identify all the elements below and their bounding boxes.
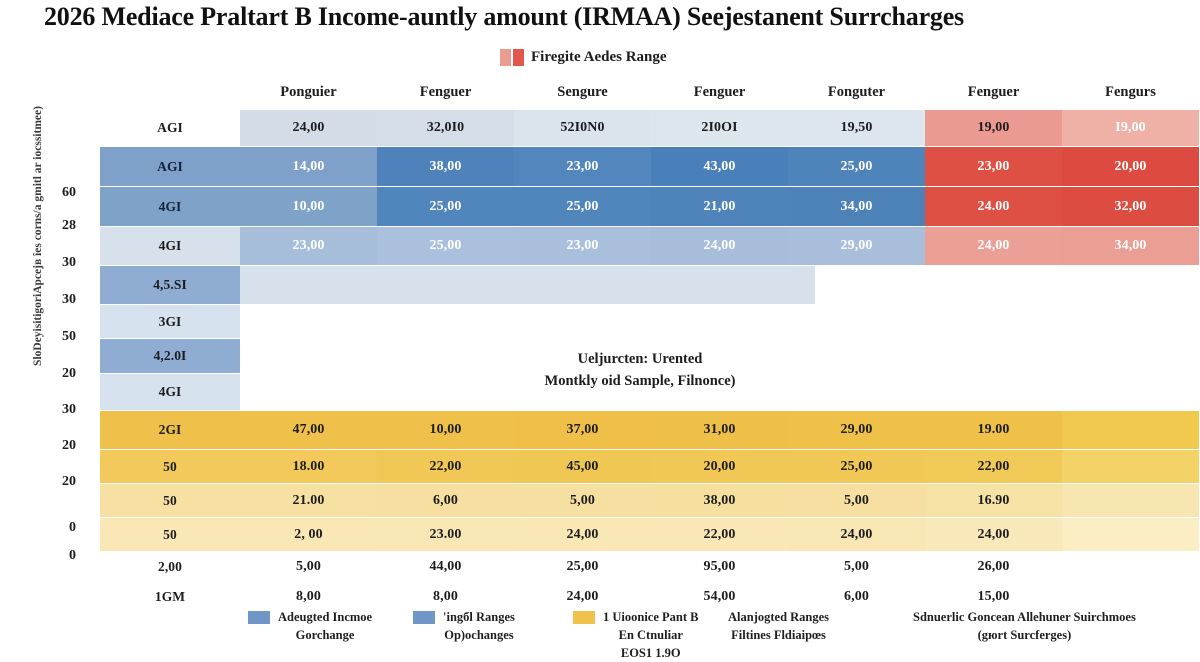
cell-12-2: 25,00 bbox=[514, 552, 651, 582]
cell-1-2: 23,00 bbox=[514, 147, 651, 186]
legend-swatch-0 bbox=[248, 611, 270, 624]
cell-11-4: 24,00 bbox=[788, 518, 925, 551]
legend-label-line: Op)ochanges bbox=[443, 626, 515, 644]
row-label-10: 50 bbox=[100, 484, 240, 517]
cell-1-1: 38,00 bbox=[377, 147, 514, 186]
cell-8-5: 19.00 bbox=[925, 411, 1062, 449]
cell-8-6 bbox=[1062, 411, 1199, 449]
cell-12-4: 5,00 bbox=[788, 552, 925, 582]
cell-9-0: 18.00 bbox=[240, 450, 377, 483]
cell-3-0: 23,00 bbox=[240, 227, 377, 265]
cell-1-3: 43,00 bbox=[651, 147, 788, 186]
cell-9-4: 25,00 bbox=[788, 450, 925, 483]
legend-swatch-2 bbox=[573, 611, 595, 624]
legend-label-line: Gorchange bbox=[278, 626, 372, 644]
cell-10-1: 6,00 bbox=[377, 484, 514, 517]
bottom-legend: Adeugted IncmoeGorchange'ingбl RangesOp)… bbox=[248, 608, 1188, 654]
cell-2-0: 10,00 bbox=[240, 187, 377, 226]
cell-12-1: 44,00 bbox=[377, 552, 514, 582]
legend-label-4: Sdnuerlic Goncean Allehuner Suirchmoes(g… bbox=[913, 608, 1136, 644]
cell-10-4: 5,00 bbox=[788, 484, 925, 517]
cell-2-1: 25,00 bbox=[377, 187, 514, 226]
row-label-11: 50 bbox=[100, 518, 240, 551]
row-label-0: AGI bbox=[100, 110, 240, 146]
cell-10-6 bbox=[1062, 484, 1199, 517]
cell-3-1: 25,00 bbox=[377, 227, 514, 265]
cell-0-4: 19,50 bbox=[788, 110, 925, 146]
cell-12-5: 26,00 bbox=[925, 552, 1062, 582]
legend-label-line: Filtines Fldiaipœs bbox=[728, 626, 829, 644]
cell-10-3: 38,00 bbox=[651, 484, 788, 517]
legend-label-line: EOS1 1.9O bbox=[603, 644, 698, 662]
cell-0-5: 19,00 bbox=[925, 110, 1062, 146]
cell-13-3: 54,00 bbox=[651, 583, 788, 611]
cell-2-3: 21,00 bbox=[651, 187, 788, 226]
legend-label-line: 1 Uioonice Pant B bbox=[603, 608, 698, 626]
cell-10-5: 16.90 bbox=[925, 484, 1062, 517]
row-label-1: AGI bbox=[100, 147, 240, 186]
cell-3-2: 23,00 bbox=[514, 227, 651, 265]
cell-0-0: 24,00 bbox=[240, 110, 377, 146]
row-label-4: 4,5.SI bbox=[100, 266, 240, 304]
middle-note-line2: Montkly oid Sample, Filnonce) bbox=[430, 370, 850, 392]
row-label-6: 4,2.0I bbox=[100, 339, 240, 373]
cell-11-6 bbox=[1062, 518, 1199, 551]
legend-label-0: Adeugted IncmoeGorchange bbox=[278, 608, 372, 644]
cell-1-5: 23,00 bbox=[925, 147, 1062, 186]
legend-item-0[interactable]: Adeugted IncmoeGorchange bbox=[248, 608, 398, 644]
middle-note: Ueljurcten: Urented Montkly oid Sample, … bbox=[430, 348, 850, 393]
cell-13-2: 24,00 bbox=[514, 583, 651, 611]
legend-label-line: En Ctnuliar bbox=[603, 626, 698, 644]
cell-3-6: 34,00 bbox=[1062, 227, 1199, 265]
row-label-13: 1GM bbox=[100, 583, 240, 611]
cell-13-5: 15,00 bbox=[925, 583, 1062, 611]
row-label-7: 4GI bbox=[100, 374, 240, 410]
cell-13-0: 8,00 bbox=[240, 583, 377, 611]
row-label-8: 2GI bbox=[100, 411, 240, 449]
cell-8-2: 37,00 bbox=[514, 411, 651, 449]
legend-item-1[interactable]: 'ingбl RangesOp)ochanges bbox=[413, 608, 563, 644]
cell-8-4: 29,00 bbox=[788, 411, 925, 449]
legend-label-line: 'ingбl Ranges bbox=[443, 608, 515, 626]
cell-9-2: 45,00 bbox=[514, 450, 651, 483]
cell-9-1: 22,00 bbox=[377, 450, 514, 483]
cell-3-3: 24,00 bbox=[651, 227, 788, 265]
row-label-5: 3GI bbox=[100, 305, 240, 338]
chart-canvas: 2026 Mediace Praltart B Income-auntly am… bbox=[0, 0, 1200, 654]
cell-0-6: I9,00 bbox=[1062, 110, 1199, 146]
empty-strip-4 bbox=[240, 266, 815, 304]
legend-label-1: 'ingбl RangesOp)ochanges bbox=[443, 608, 515, 644]
row-label-2: 4GI bbox=[100, 187, 240, 226]
legend-label-3: Alanjogted RangesFiltines Fldiaipœs bbox=[728, 608, 829, 644]
cell-1-0: 14,00 bbox=[240, 147, 377, 186]
cell-11-1: 23.00 bbox=[377, 518, 514, 551]
cell-0-3: 2I0OI bbox=[651, 110, 788, 146]
cell-8-0: 47,00 bbox=[240, 411, 377, 449]
cell-11-0: 2, 00 bbox=[240, 518, 377, 551]
cell-2-4: 34,00 bbox=[788, 187, 925, 226]
cell-0-1: 32,0I0 bbox=[377, 110, 514, 146]
cell-2-5: 24.00 bbox=[925, 187, 1062, 226]
legend-item-4[interactable]: Sdnuerlic Goncean Allehuner Suirchmoes(g… bbox=[913, 608, 1200, 644]
legend-item-3[interactable]: Alanjogted RangesFiltines Fldiaipœs bbox=[728, 608, 903, 644]
cell-11-2: 24,00 bbox=[514, 518, 651, 551]
cell-13-4: 6,00 bbox=[788, 583, 925, 611]
cell-9-3: 20,00 bbox=[651, 450, 788, 483]
cell-3-5: 24,00 bbox=[925, 227, 1062, 265]
cell-3-4: 29,00 bbox=[788, 227, 925, 265]
cell-10-2: 5,00 bbox=[514, 484, 651, 517]
cell-1-4: 25,00 bbox=[788, 147, 925, 186]
legend-label-line: Adeugted Incmoe bbox=[278, 608, 372, 626]
cell-11-3: 22,00 bbox=[651, 518, 788, 551]
legend-label-line: Alanjogted Ranges bbox=[728, 608, 829, 626]
row-label-3: 4GI bbox=[100, 227, 240, 265]
cell-10-0: 21.00 bbox=[240, 484, 377, 517]
cell-1-6: 20,00 bbox=[1062, 147, 1199, 186]
cell-8-3: 31,00 bbox=[651, 411, 788, 449]
middle-note-line1: Ueljurcten: Urented bbox=[430, 348, 850, 370]
cell-8-1: 10,00 bbox=[377, 411, 514, 449]
row-label-9: 50 bbox=[100, 450, 240, 483]
cell-12-0: 5,00 bbox=[240, 552, 377, 582]
legend-swatch-1 bbox=[413, 611, 435, 624]
row-label-12: 2,00 bbox=[100, 552, 240, 582]
legend-label-line: (gюrt Surcferges) bbox=[913, 626, 1136, 644]
heatmap-grid: AGI24,0032,0I052I0N02I0OI19,5019,00I9,00… bbox=[0, 0, 1200, 654]
cell-12-3: 95,00 bbox=[651, 552, 788, 582]
cell-2-2: 25,00 bbox=[514, 187, 651, 226]
legend-label-line: Sdnuerlic Goncean Allehuner Suirchmoes bbox=[913, 608, 1136, 626]
cell-13-1: 8,00 bbox=[377, 583, 514, 611]
cell-2-6: 32,00 bbox=[1062, 187, 1199, 226]
cell-0-2: 52I0N0 bbox=[514, 110, 651, 146]
cell-11-5: 24,00 bbox=[925, 518, 1062, 551]
cell-9-6 bbox=[1062, 450, 1199, 483]
cell-9-5: 22,00 bbox=[925, 450, 1062, 483]
